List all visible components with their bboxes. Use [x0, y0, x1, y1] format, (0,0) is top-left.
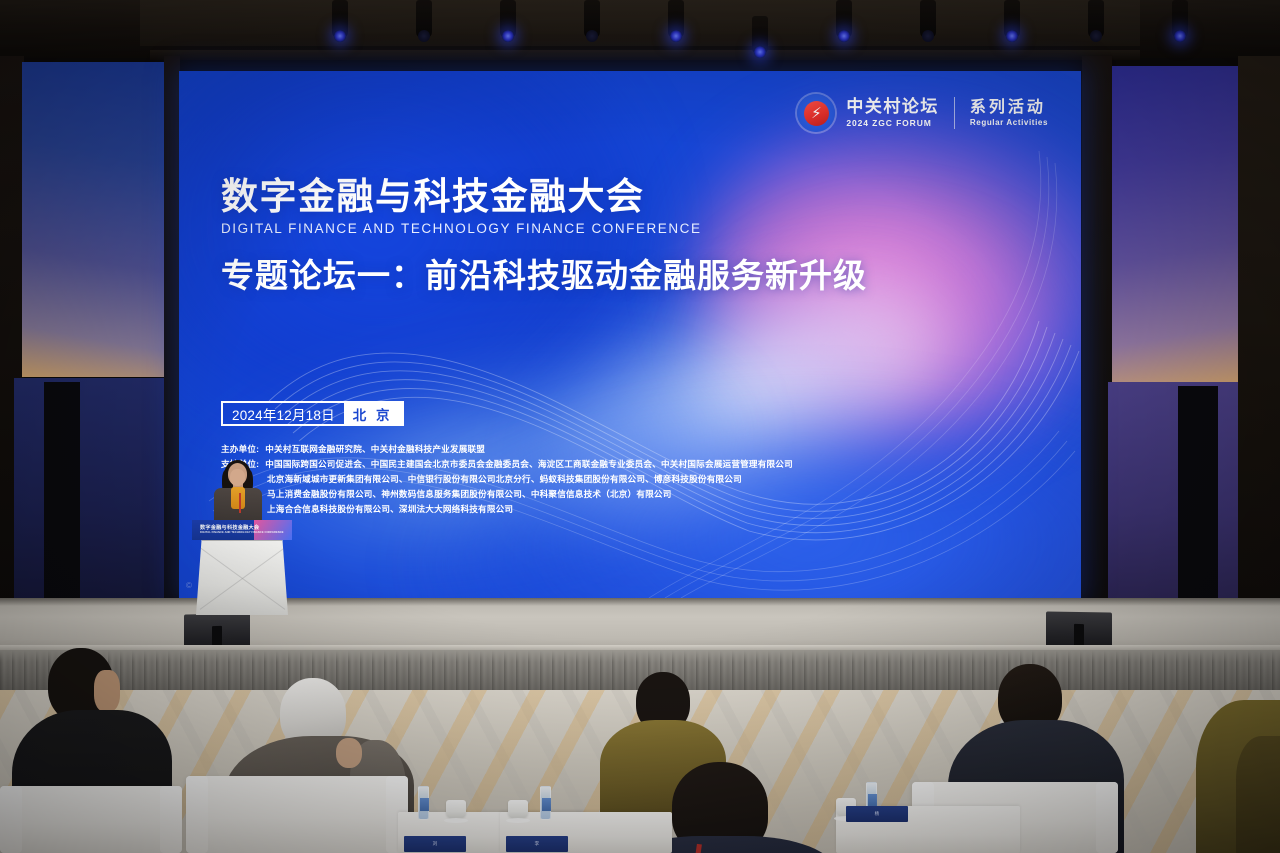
- support-value-1: 中国国际跨国公司促进会、中国民主建国会北京市委员会金融委员会、海淀区工商联金融专…: [265, 458, 793, 470]
- presenter-scarf: [231, 487, 245, 509]
- conference-title-cn: 数字金融与科技金融大会: [221, 178, 867, 217]
- presenter-face: [230, 469, 245, 486]
- sofa-arm: [1096, 782, 1118, 853]
- audience-face: [94, 670, 120, 712]
- podium-bevel-line: [200, 547, 286, 610]
- audience-torso: [1236, 736, 1280, 853]
- support-value-3: 马上消费金融股份有限公司、神州数码信息服务集团股份有限公司、中科聚信信息技术（北…: [267, 488, 881, 500]
- name-card-text: 杨: [846, 806, 908, 822]
- stage-light-icon: [1004, 0, 1020, 38]
- side-door-right: [1178, 386, 1218, 616]
- wall-panel-left: [22, 62, 164, 377]
- name-card-text: 刘: [404, 836, 466, 852]
- zgc-primary-name: 中关村论坛 2024 ZGC FORUM: [846, 98, 939, 128]
- zgc-name-en: 2024 ZGC FORUM: [846, 118, 931, 128]
- tea-cup: [446, 800, 466, 819]
- stage-light-icon: [920, 0, 936, 38]
- stage-light-icon: [1172, 0, 1188, 38]
- support-row: 支持单位: 中国国际跨国公司促进会、中国民主建国会北京市委员会金融委员会、海淀区…: [221, 458, 881, 470]
- audience-person: [1236, 736, 1280, 853]
- stage-light-icon: [668, 0, 684, 38]
- event-date: 2024年12月18日: [223, 403, 344, 424]
- podium-header-panel: 数字金融与科技金融大会 DIGITAL FINANCE AND TECHNOLO…: [192, 520, 292, 540]
- sofa-arm: [0, 786, 22, 853]
- stage-light-icon: [752, 16, 768, 54]
- logo-divider: [954, 97, 955, 129]
- event-city: 北 京: [344, 403, 402, 424]
- zgc-name-cn: 中关村论坛: [846, 98, 939, 116]
- podium-bevel-line: [200, 547, 286, 610]
- podium-banner-text: 数字金融与科技金融大会 DIGITAL FINANCE AND TECHNOLO…: [200, 524, 284, 534]
- conference-title-en: DIGITAL FINANCE AND TECHNOLOGY FINANCE C…: [221, 221, 867, 236]
- stage-light-icon: [500, 0, 516, 38]
- place-name-card: 刘: [404, 836, 466, 852]
- presenter-person: [208, 463, 268, 525]
- audience-sofa: [186, 776, 408, 853]
- podium-body: [196, 540, 288, 615]
- podium-banner-en: DIGITAL FINANCE AND TECHNOLOGY FINANCE C…: [200, 531, 284, 534]
- place-name-card: 杨: [846, 806, 908, 822]
- zgc-secondary-name: 系列活动 Regular Activities: [970, 99, 1048, 128]
- host-row: 主办单位: 中关村互联网金融研究院、中关村金融科技产业发展联盟: [221, 443, 881, 455]
- host-label: 主办单位:: [221, 443, 259, 455]
- sofa-arm: [186, 776, 208, 853]
- slide-title-block: 数字金融与科技金融大会 DIGITAL FINANCE AND TECHNOLO…: [221, 178, 867, 294]
- presenter-lanyard: [239, 493, 241, 513]
- led-presentation-screen: ⚡ 中关村论坛 2024 ZGC FORUM 系列活动 Regular Acti…: [179, 71, 1081, 598]
- stage-light-icon: [332, 0, 348, 38]
- ceiling-band: [140, 0, 1140, 46]
- audience-hand: [336, 738, 362, 768]
- date-location-badge: 2024年12月18日 北 京: [221, 401, 404, 426]
- zgc-activity-cn: 系列活动: [970, 99, 1046, 117]
- wall-column: [1238, 56, 1280, 626]
- sofa-arm: [160, 786, 182, 853]
- zgc-emblem-icon: ⚡: [797, 94, 835, 132]
- name-card-text: 李: [506, 836, 568, 852]
- host-value: 中关村互联网金融研究院、中关村金融科技产业发展联盟: [265, 443, 485, 455]
- audience-sofa: [0, 786, 182, 853]
- wall-column: [164, 56, 180, 626]
- place-name-card: 李: [506, 836, 568, 852]
- stage-light-icon: [836, 0, 852, 38]
- zgc-forum-logo: ⚡ 中关村论坛 2024 ZGC FORUM 系列活动 Regular Acti…: [797, 94, 1048, 132]
- stage-light-icon: [416, 0, 432, 38]
- stage-light-icon: [1088, 0, 1104, 38]
- lighting-truss: [150, 50, 1140, 60]
- side-door-left: [44, 382, 80, 614]
- wall-panel-right: [1112, 66, 1240, 386]
- speaking-podium: 数字金融与科技金融大会 DIGITAL FINANCE AND TECHNOLO…: [196, 520, 288, 615]
- tea-cup: [508, 800, 528, 819]
- support-value-2: 北京海新域城市更新集团有限公司、中信银行股份有限公司北京分行、蚂蚁科技集团股份有…: [267, 473, 881, 485]
- screen-watermark: ©: [186, 581, 192, 590]
- stage-light-icon: [584, 0, 600, 38]
- water-bottle: [540, 786, 551, 820]
- water-bottle: [418, 786, 429, 820]
- forum-subtitle-cn: 专题论坛一：前沿科技驱动金融服务新升级: [221, 258, 867, 294]
- support-value-4: 上海合合信息科技股份有限公司、深圳法大大网络科技有限公司: [267, 503, 881, 515]
- zgc-emblem-glyph: ⚡: [804, 101, 829, 126]
- conference-hall-photo: ⚡ 中关村论坛 2024 ZGC FORUM 系列活动 Regular Acti…: [0, 0, 1280, 853]
- wall-lower-left: [14, 378, 164, 618]
- organizer-list: 主办单位: 中关村互联网金融研究院、中关村金融科技产业发展联盟 支持单位: 中国…: [221, 443, 881, 518]
- zgc-activity-en: Regular Activities: [970, 118, 1048, 127]
